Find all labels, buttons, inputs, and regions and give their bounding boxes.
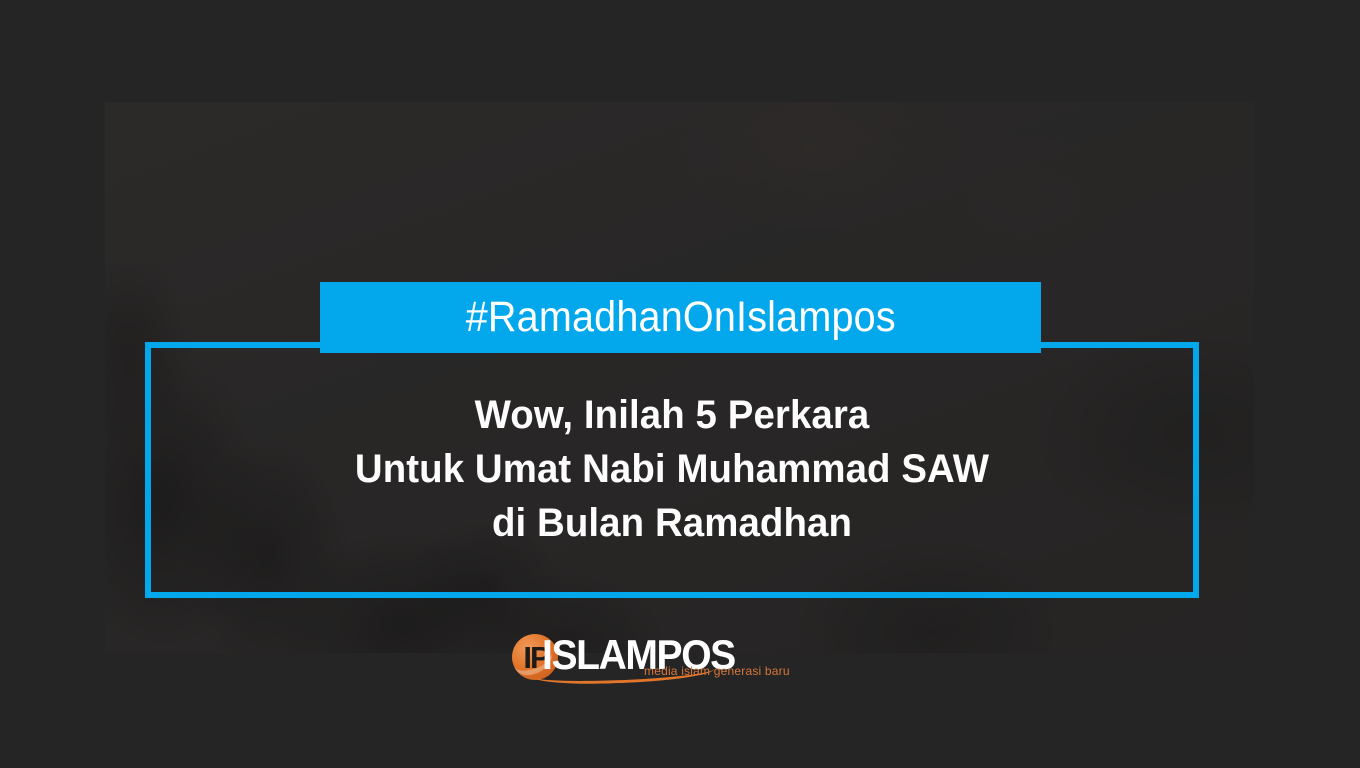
headline-text: Wow, Inilah 5 Perkara Untuk Umat Nabi Mu… (150, 388, 1194, 550)
logo-tagline: media islam generasi baru (644, 665, 790, 677)
hashtag-banner: #RamadhanOnIslampos (320, 282, 1041, 353)
headline-line-3: di Bulan Ramadhan (171, 496, 1173, 550)
headline-line-1: Wow, Inilah 5 Perkara (171, 388, 1173, 442)
headline-line-2: Untuk Umat Nabi Muhammad SAW (171, 442, 1173, 496)
slide-canvas: #RamadhanOnIslampos Wow, Inilah 5 Perkar… (0, 0, 1360, 768)
islampos-logo: IP ISLAMPOS media islam generasi baru (512, 632, 762, 686)
hashtag-label: #RamadhanOnIslampos (465, 296, 895, 339)
